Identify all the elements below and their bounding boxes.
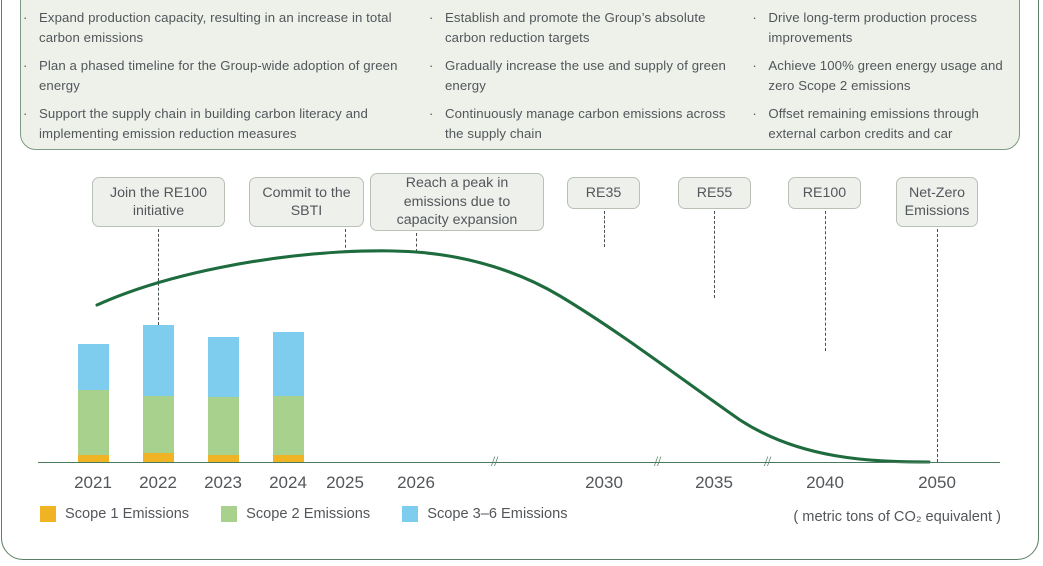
strategy-bullet-text: Drive long-term production process impro…	[768, 8, 1020, 47]
chart-unit-note: ( metric tons of CO₂ equivalent )	[793, 508, 1001, 526]
bullet-icon: ·	[426, 8, 445, 27]
strategy-bullet-text: Gradually increase the use and supply of…	[445, 56, 739, 95]
legend-swatch-icon	[221, 506, 237, 522]
list-item: · Achieve 100% green energy usage and ze…	[749, 56, 1020, 95]
axis-break-marker	[491, 454, 507, 470]
strategy-bullet-text: Achieve 100% green energy usage and zero…	[768, 56, 1020, 95]
bullet-icon: ·	[749, 8, 768, 27]
strategy-bullet-text: Expand production capacity, resulting in…	[39, 8, 416, 47]
x-tick-2030: 2030	[564, 472, 644, 494]
x-tick-2035: 2035	[674, 472, 754, 494]
strategy-bullet-text: Offset remaining emissions through exter…	[768, 104, 1020, 143]
list-item: · Continuously manage carbon emissions a…	[426, 104, 739, 143]
chart-legend: Scope 1 Emissions Scope 2 Emissions Scop…	[40, 505, 600, 523]
x-tick-2050: 2050	[897, 472, 977, 494]
list-item: · Plan a phased timeline for the Group-w…	[20, 56, 416, 95]
bullet-icon: ·	[426, 56, 445, 75]
list-item: · Gradually increase the use and supply …	[426, 56, 739, 95]
legend-label: Scope 1 Emissions	[65, 505, 189, 523]
strategy-bullet-text: Continuously manage carbon emissions acr…	[445, 104, 739, 143]
bullet-icon: ·	[749, 56, 768, 75]
x-tick-2026: 2026	[376, 472, 456, 494]
legend-label: Scope 3–6 Emissions	[427, 505, 567, 523]
legend-item-scope3-6[interactable]: Scope 3–6 Emissions	[402, 505, 567, 523]
legend-label: Scope 2 Emissions	[246, 505, 370, 523]
x-tick-2025: 2025	[305, 472, 385, 494]
x-tick-2040: 2040	[785, 472, 865, 494]
bullet-icon: ·	[426, 104, 445, 123]
strategy-columns: · Expand production capacity, resulting …	[20, 8, 1030, 150]
strategy-bullet-text: Plan a phased timeline for the Group-wid…	[39, 56, 416, 95]
strategy-column-long-term: · Drive long-term production process imp…	[749, 8, 1030, 152]
bullet-icon: ·	[20, 8, 39, 27]
list-item: · Establish and promote the Group’s abso…	[426, 8, 739, 47]
list-item: · Drive long-term production process imp…	[749, 8, 1020, 47]
bar-segment-scope3-6	[143, 325, 174, 396]
list-item: · Offset remaining emissions through ext…	[749, 104, 1020, 143]
x-axis-line	[38, 462, 1000, 463]
bullet-icon: ·	[20, 104, 39, 123]
bullet-icon: ·	[20, 56, 39, 75]
bar-segment-scope3-6	[208, 337, 239, 397]
emissions-roadmap-chart: Join the RE100 initiative Commit to the …	[0, 160, 1043, 566]
legend-swatch-icon	[402, 506, 418, 522]
strategy-column-mid-term: · Establish and promote the Group’s abso…	[426, 8, 749, 152]
legend-item-scope2[interactable]: Scope 2 Emissions	[221, 505, 370, 523]
legend-swatch-icon	[40, 506, 56, 522]
bar-segment-scope2	[143, 396, 174, 453]
bullet-icon: ·	[749, 104, 768, 123]
list-item: · Support the supply chain in building c…	[20, 104, 416, 143]
list-item: · Expand production capacity, resulting …	[20, 8, 416, 47]
strategy-bullet-text: Support the supply chain in building car…	[39, 104, 416, 143]
bar-segment-scope3-6	[273, 332, 304, 396]
bar-segment-scope2	[273, 396, 304, 455]
esg-carbon-roadmap-figure: · Expand production capacity, resulting …	[0, 0, 1043, 566]
strategy-column-near-term: · Expand production capacity, resulting …	[20, 8, 426, 152]
bar-segment-scope3-6	[78, 344, 109, 390]
axis-break-marker	[654, 454, 670, 470]
axis-break-marker	[764, 454, 780, 470]
legend-item-scope1[interactable]: Scope 1 Emissions	[40, 505, 189, 523]
bar-segment-scope2	[78, 390, 109, 455]
bar-segment-scope2	[208, 397, 239, 455]
strategy-bullet-text: Establish and promote the Group’s absolu…	[445, 8, 739, 47]
